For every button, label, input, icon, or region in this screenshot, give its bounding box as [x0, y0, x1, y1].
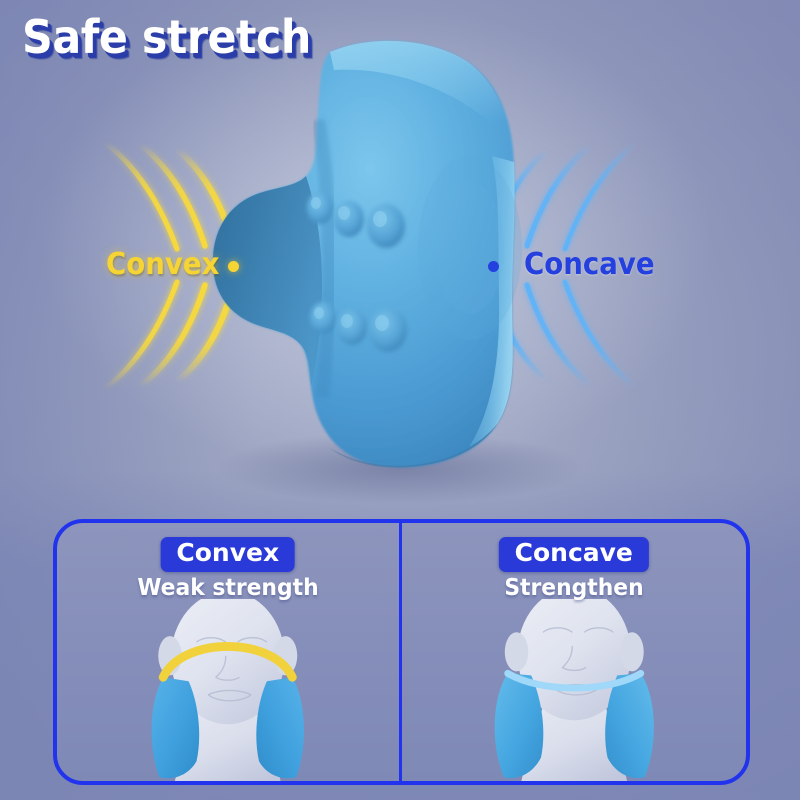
hero-label-convex: Convex	[106, 250, 219, 280]
figure-concave	[402, 599, 747, 781]
comparison-column-concave: Concave Strengthen	[402, 523, 747, 781]
badge-concave: Concave	[499, 537, 649, 572]
mannequin-ear-right	[620, 632, 643, 671]
mannequin-concave	[402, 599, 747, 781]
product-concave-dish-inner	[436, 182, 504, 314]
hero-label-concave: Concave	[524, 250, 655, 280]
subtitle-convex: Weak strength	[137, 576, 318, 601]
pillow-pad-left	[494, 673, 543, 778]
hero-marker-dot-concave	[488, 261, 499, 272]
marketing-image: Safe stretch Convex Concave	[0, 0, 800, 800]
comparison-column-convex: Convex Weak strength	[57, 523, 402, 781]
pillow-pad-right	[605, 673, 654, 778]
page-title: Safe stretch	[22, 14, 333, 60]
badge-convex: Convex	[160, 537, 295, 572]
subtitle-concave: Strengthen	[504, 576, 643, 601]
pillow-pad-left	[152, 677, 200, 778]
comparison-panel: Convex Weak strength	[53, 519, 750, 785]
hero-marker-dot-convex	[228, 261, 239, 272]
mannequin-convex	[57, 599, 399, 781]
pillow-pad-right	[256, 677, 304, 778]
mannequin-ear-left	[504, 632, 527, 671]
title-text: Safe stretch	[22, 14, 311, 60]
figure-convex	[57, 599, 399, 781]
